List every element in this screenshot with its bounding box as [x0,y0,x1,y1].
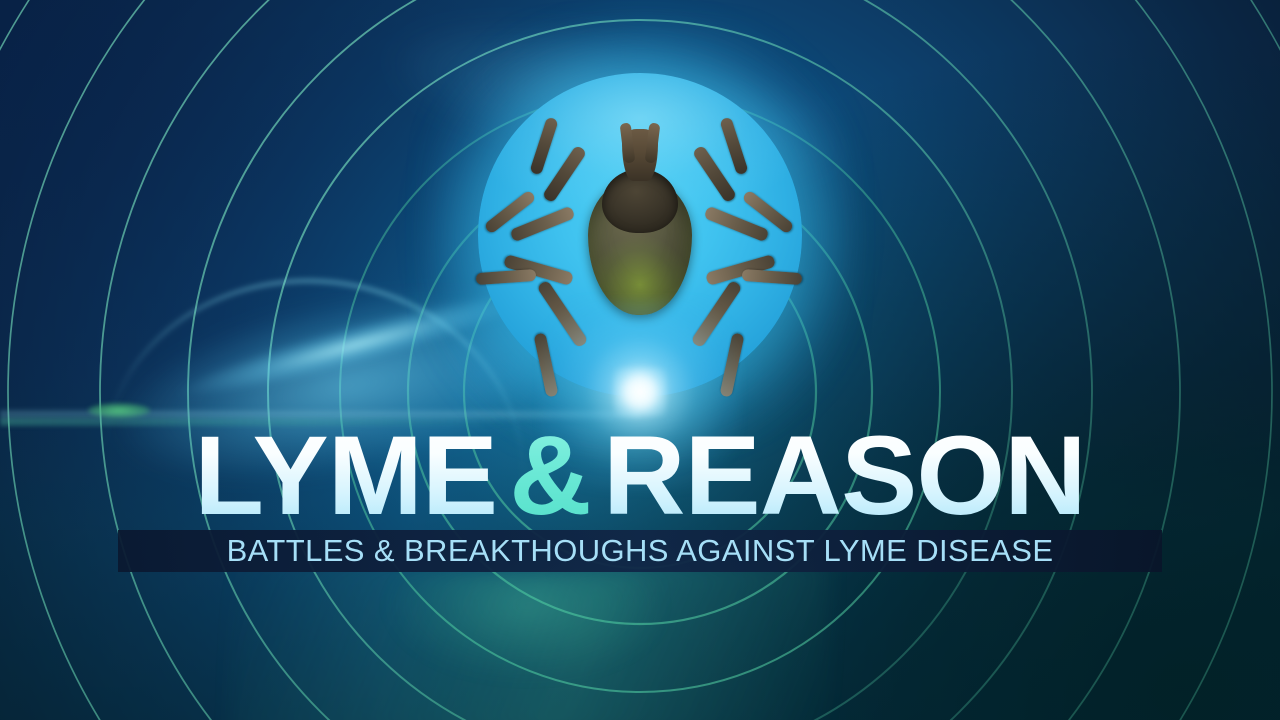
broadcast-title-graphic: LYME&REASON BATTLES & BREAKTHOUGHS AGAIN… [0,0,1280,720]
page-title: LYME&REASON [194,424,1085,528]
title-block: LYME&REASON [0,424,1280,528]
subtitle-bar: BATTLES & BREAKTHOUGHS AGAINST LYME DISE… [118,530,1162,572]
subtitle-text: BATTLES & BREAKTHOUGHS AGAINST LYME DISE… [227,533,1054,569]
title-word-reason: REASON [603,413,1086,538]
tick-medallion [470,65,810,405]
title-word-lyme: LYME [194,413,497,538]
tick-icon [470,65,810,405]
title-ampersand: & [509,413,590,538]
